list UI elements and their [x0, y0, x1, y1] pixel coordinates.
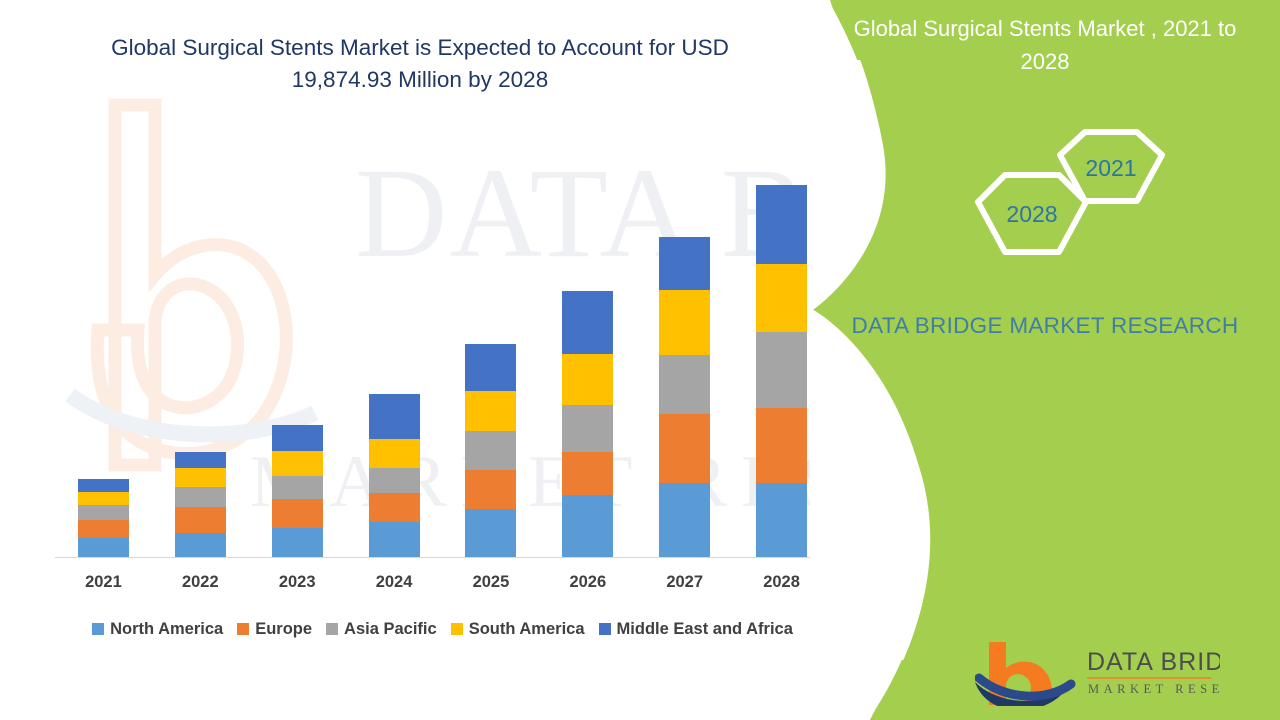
stacked-bar: [756, 185, 807, 557]
hexagon-2028: 2028: [978, 175, 1086, 252]
x-tick-2024: 2024: [346, 573, 442, 592]
bar-column-2024: [346, 157, 442, 557]
bar-column-2021: [55, 157, 151, 557]
bar-segment-europe: [465, 470, 516, 509]
x-tick-2022: 2022: [152, 573, 248, 592]
bar-segment-south-america: [175, 468, 226, 487]
bar-column-2026: [540, 157, 636, 557]
hexagon-pair: 2028 2021: [960, 145, 1220, 285]
legend-item-europe[interactable]: Europe: [237, 620, 312, 639]
bar-segment-south-america: [659, 290, 710, 355]
hexagon-2021-label: 2021: [1085, 155, 1136, 181]
legend-item-asia-pacific[interactable]: Asia Pacific: [326, 620, 437, 639]
panel-title: Global Surgical Stents Market , 2021 to …: [850, 12, 1240, 78]
legend-swatch-icon: [92, 623, 104, 635]
legend-label: Middle East and Africa: [617, 620, 793, 639]
legend-item-middle-east-and-africa[interactable]: Middle East and Africa: [599, 620, 793, 639]
bar-segment-asia-pacific: [465, 431, 516, 470]
bar-segment-south-america: [272, 451, 323, 476]
bar-segment-north-america: [659, 483, 710, 557]
infographic-canvas: DATA BRIDGE MARKET RESEARCH Global Surgi…: [0, 0, 1280, 720]
bar-segment-middle-east-and-africa: [272, 425, 323, 451]
bar-segment-middle-east-and-africa: [756, 185, 807, 264]
x-tick-2023: 2023: [249, 573, 345, 592]
legend-label: South America: [469, 620, 585, 639]
bar-segment-north-america: [562, 495, 613, 557]
bar-segment-south-america: [465, 391, 516, 431]
bar-segment-europe: [175, 507, 226, 533]
chart-legend: North AmericaEuropeAsia PacificSouth Ame…: [55, 616, 830, 642]
data-bridge-logo: DATA BRIDGE MARKET RESEARCH: [975, 638, 1220, 706]
x-tick-2027: 2027: [637, 573, 733, 592]
bar-segment-asia-pacific: [78, 505, 129, 520]
bar-segment-north-america: [465, 509, 516, 557]
logo-primary-text: DATA BRIDGE: [1087, 648, 1220, 676]
bar-segment-europe: [659, 414, 710, 483]
bar-segment-europe: [562, 452, 613, 495]
bar-segment-europe: [272, 499, 323, 528]
bar-segment-asia-pacific: [562, 405, 613, 452]
bar-segment-middle-east-and-africa: [562, 291, 613, 354]
bar-column-2025: [443, 157, 539, 557]
x-tick-2025: 2025: [443, 573, 539, 592]
legend-swatch-icon: [237, 623, 249, 635]
bar-segment-south-america: [562, 354, 613, 405]
bar-segment-middle-east-and-africa: [659, 237, 710, 290]
logo-b-mark-icon: [975, 642, 1071, 706]
bar-segment-south-america: [756, 264, 807, 332]
legend-swatch-icon: [451, 623, 463, 635]
bar-segment-south-america: [78, 492, 129, 505]
bar-segment-north-america: [369, 522, 420, 557]
stacked-bar: [562, 291, 613, 557]
bar-segment-north-america: [756, 483, 807, 557]
stacked-bar: [465, 344, 516, 557]
x-axis-tick-labels: 20212022202320242025202620272028: [55, 568, 830, 596]
stacked-bar: [659, 237, 710, 557]
stacked-bar: [272, 425, 323, 557]
bar-segment-middle-east-and-africa: [78, 479, 129, 492]
legend-swatch-icon: [326, 623, 338, 635]
stacked-bar: [369, 394, 420, 557]
right-panel-content: Global Surgical Stents Market , 2021 to …: [810, 0, 1280, 720]
bar-segment-europe: [78, 520, 129, 538]
stacked-bar: [78, 479, 129, 557]
bar-segment-asia-pacific: [369, 468, 420, 493]
legend-swatch-icon: [599, 623, 611, 635]
legend-label: Asia Pacific: [344, 620, 437, 639]
x-tick-2026: 2026: [540, 573, 636, 592]
bar-segment-asia-pacific: [756, 332, 807, 408]
x-axis-line: [55, 557, 830, 558]
hexagon-2028-label: 2028: [1006, 201, 1057, 227]
legend-item-north-america[interactable]: North America: [92, 620, 223, 639]
legend-label: Europe: [255, 620, 312, 639]
bar-segment-europe: [756, 408, 807, 483]
bar-column-2023: [249, 157, 345, 557]
bar-segment-asia-pacific: [272, 476, 323, 499]
bar-segment-north-america: [78, 538, 129, 557]
bar-group: [55, 157, 830, 557]
chart-plot-area: [55, 150, 830, 558]
bar-segment-north-america: [272, 528, 323, 557]
bar-segment-south-america: [369, 439, 420, 468]
bar-segment-asia-pacific: [175, 487, 226, 507]
bar-segment-asia-pacific: [659, 355, 710, 414]
brand-name: DATA BRIDGE MARKET RESEARCH: [845, 310, 1245, 341]
bar-segment-europe: [369, 493, 420, 522]
x-tick-2021: 2021: [55, 573, 151, 592]
bar-segment-middle-east-and-africa: [175, 452, 226, 468]
chart-title: Global Surgical Stents Market is Expecte…: [70, 32, 770, 96]
bar-segment-north-america: [175, 533, 226, 557]
bar-segment-middle-east-and-africa: [369, 394, 420, 439]
logo-secondary-text: MARKET RESEARCH: [1088, 682, 1220, 696]
legend-label: North America: [110, 620, 223, 639]
bar-column-2022: [152, 157, 248, 557]
bar-column-2027: [637, 157, 733, 557]
legend-item-south-america[interactable]: South America: [451, 620, 585, 639]
stacked-bar: [175, 452, 226, 557]
bar-segment-middle-east-and-africa: [465, 344, 516, 391]
